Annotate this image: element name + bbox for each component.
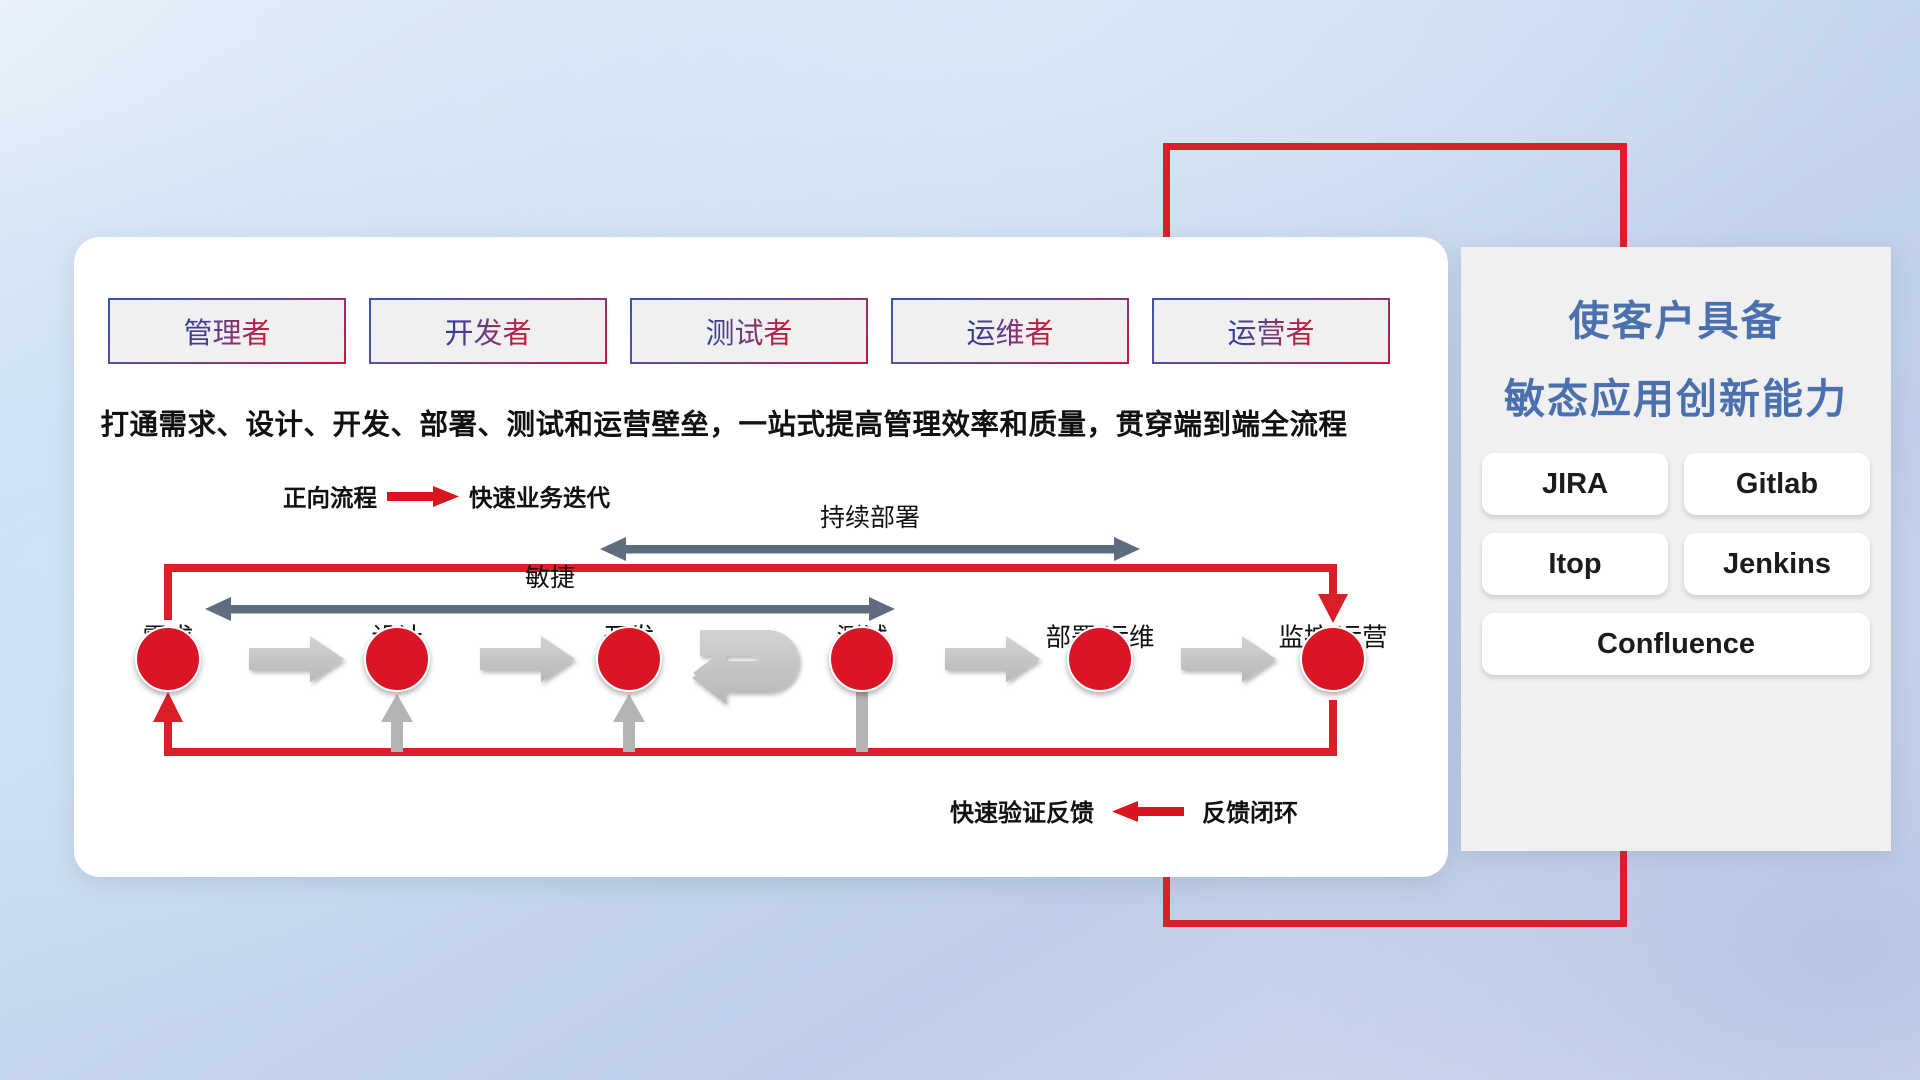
feedback-left-label: 快速验证反馈 (950, 793, 1094, 828)
tool-pill-grid: JIRA Gitlab Itop Jenkins Confluence (1479, 453, 1873, 675)
block-arrow-right-2 (480, 636, 575, 682)
measure-agile: 敏捷 (205, 558, 895, 627)
stage-node-test[interactable] (829, 626, 895, 692)
role-label: 运维者 (966, 310, 1053, 352)
role-box-row: 管理者 开发者 测试者 运维者 运营者 (108, 298, 1390, 364)
stage-node-develop[interactable] (596, 626, 662, 692)
role-box-operations[interactable]: 运营者 (1152, 298, 1390, 364)
forward-flow-left-label: 正向流程 (283, 479, 377, 513)
measure-continuous-deployment: 持续部署 (600, 498, 1140, 567)
tagline-text: 打通需求、设计、开发、部署、测试和运营壁垒，一站式提高管理效率和质量，贯穿端到端… (0, 402, 1448, 443)
role-label: 管理者 (183, 310, 270, 352)
forward-flow-caption: 正向流程 快速业务迭代 (283, 479, 610, 513)
tool-pill-itop[interactable]: Itop (1482, 533, 1668, 595)
measure-caption: 敏捷 (205, 558, 895, 594)
role-box-manager[interactable]: 管理者 (108, 298, 346, 364)
feedback-flow-caption: 快速验证反馈 反馈闭环 (950, 793, 1298, 828)
tool-pill-jira[interactable]: JIRA (1482, 453, 1668, 515)
measure-caption: 持续部署 (600, 498, 1140, 534)
arrow-right-red-icon (387, 484, 459, 508)
tool-pill-confluence[interactable]: Confluence (1482, 613, 1870, 675)
side-panel-headline-2: 敏态应用创新能力 (1461, 365, 1891, 425)
block-arrow-right-3 (945, 636, 1040, 682)
stage-node-deploy-ops[interactable] (1067, 626, 1133, 692)
role-label: 运营者 (1227, 310, 1314, 352)
block-arrow-right-4 (1181, 636, 1276, 682)
side-panel-headline-1: 使客户具备 (1461, 287, 1891, 347)
forward-flow-right-label: 快速业务迭代 (469, 479, 610, 513)
role-label: 测试者 (705, 310, 792, 352)
role-box-developer[interactable]: 开发者 (369, 298, 607, 364)
block-arrow-right-1 (249, 636, 344, 682)
double-arrow-gray-icon (205, 596, 895, 622)
role-box-tester[interactable]: 测试者 (630, 298, 868, 364)
tool-pill-gitlab[interactable]: Gitlab (1684, 453, 1870, 515)
stage-node-requirement[interactable] (135, 626, 201, 692)
stage-node-design[interactable] (364, 626, 430, 692)
arrow-left-red-icon (1112, 799, 1184, 823)
stage-node-monitor-operations[interactable] (1300, 626, 1366, 692)
role-box-ops[interactable]: 运维者 (891, 298, 1129, 364)
side-panel: 使客户具备 敏态应用创新能力 JIRA Gitlab Itop Jenkins … (1461, 247, 1891, 851)
loop-arrow-bidirectional (692, 630, 799, 704)
role-label: 开发者 (444, 310, 531, 352)
tool-pill-jenkins[interactable]: Jenkins (1684, 533, 1870, 595)
feedback-right-label: 反馈闭环 (1202, 793, 1298, 828)
